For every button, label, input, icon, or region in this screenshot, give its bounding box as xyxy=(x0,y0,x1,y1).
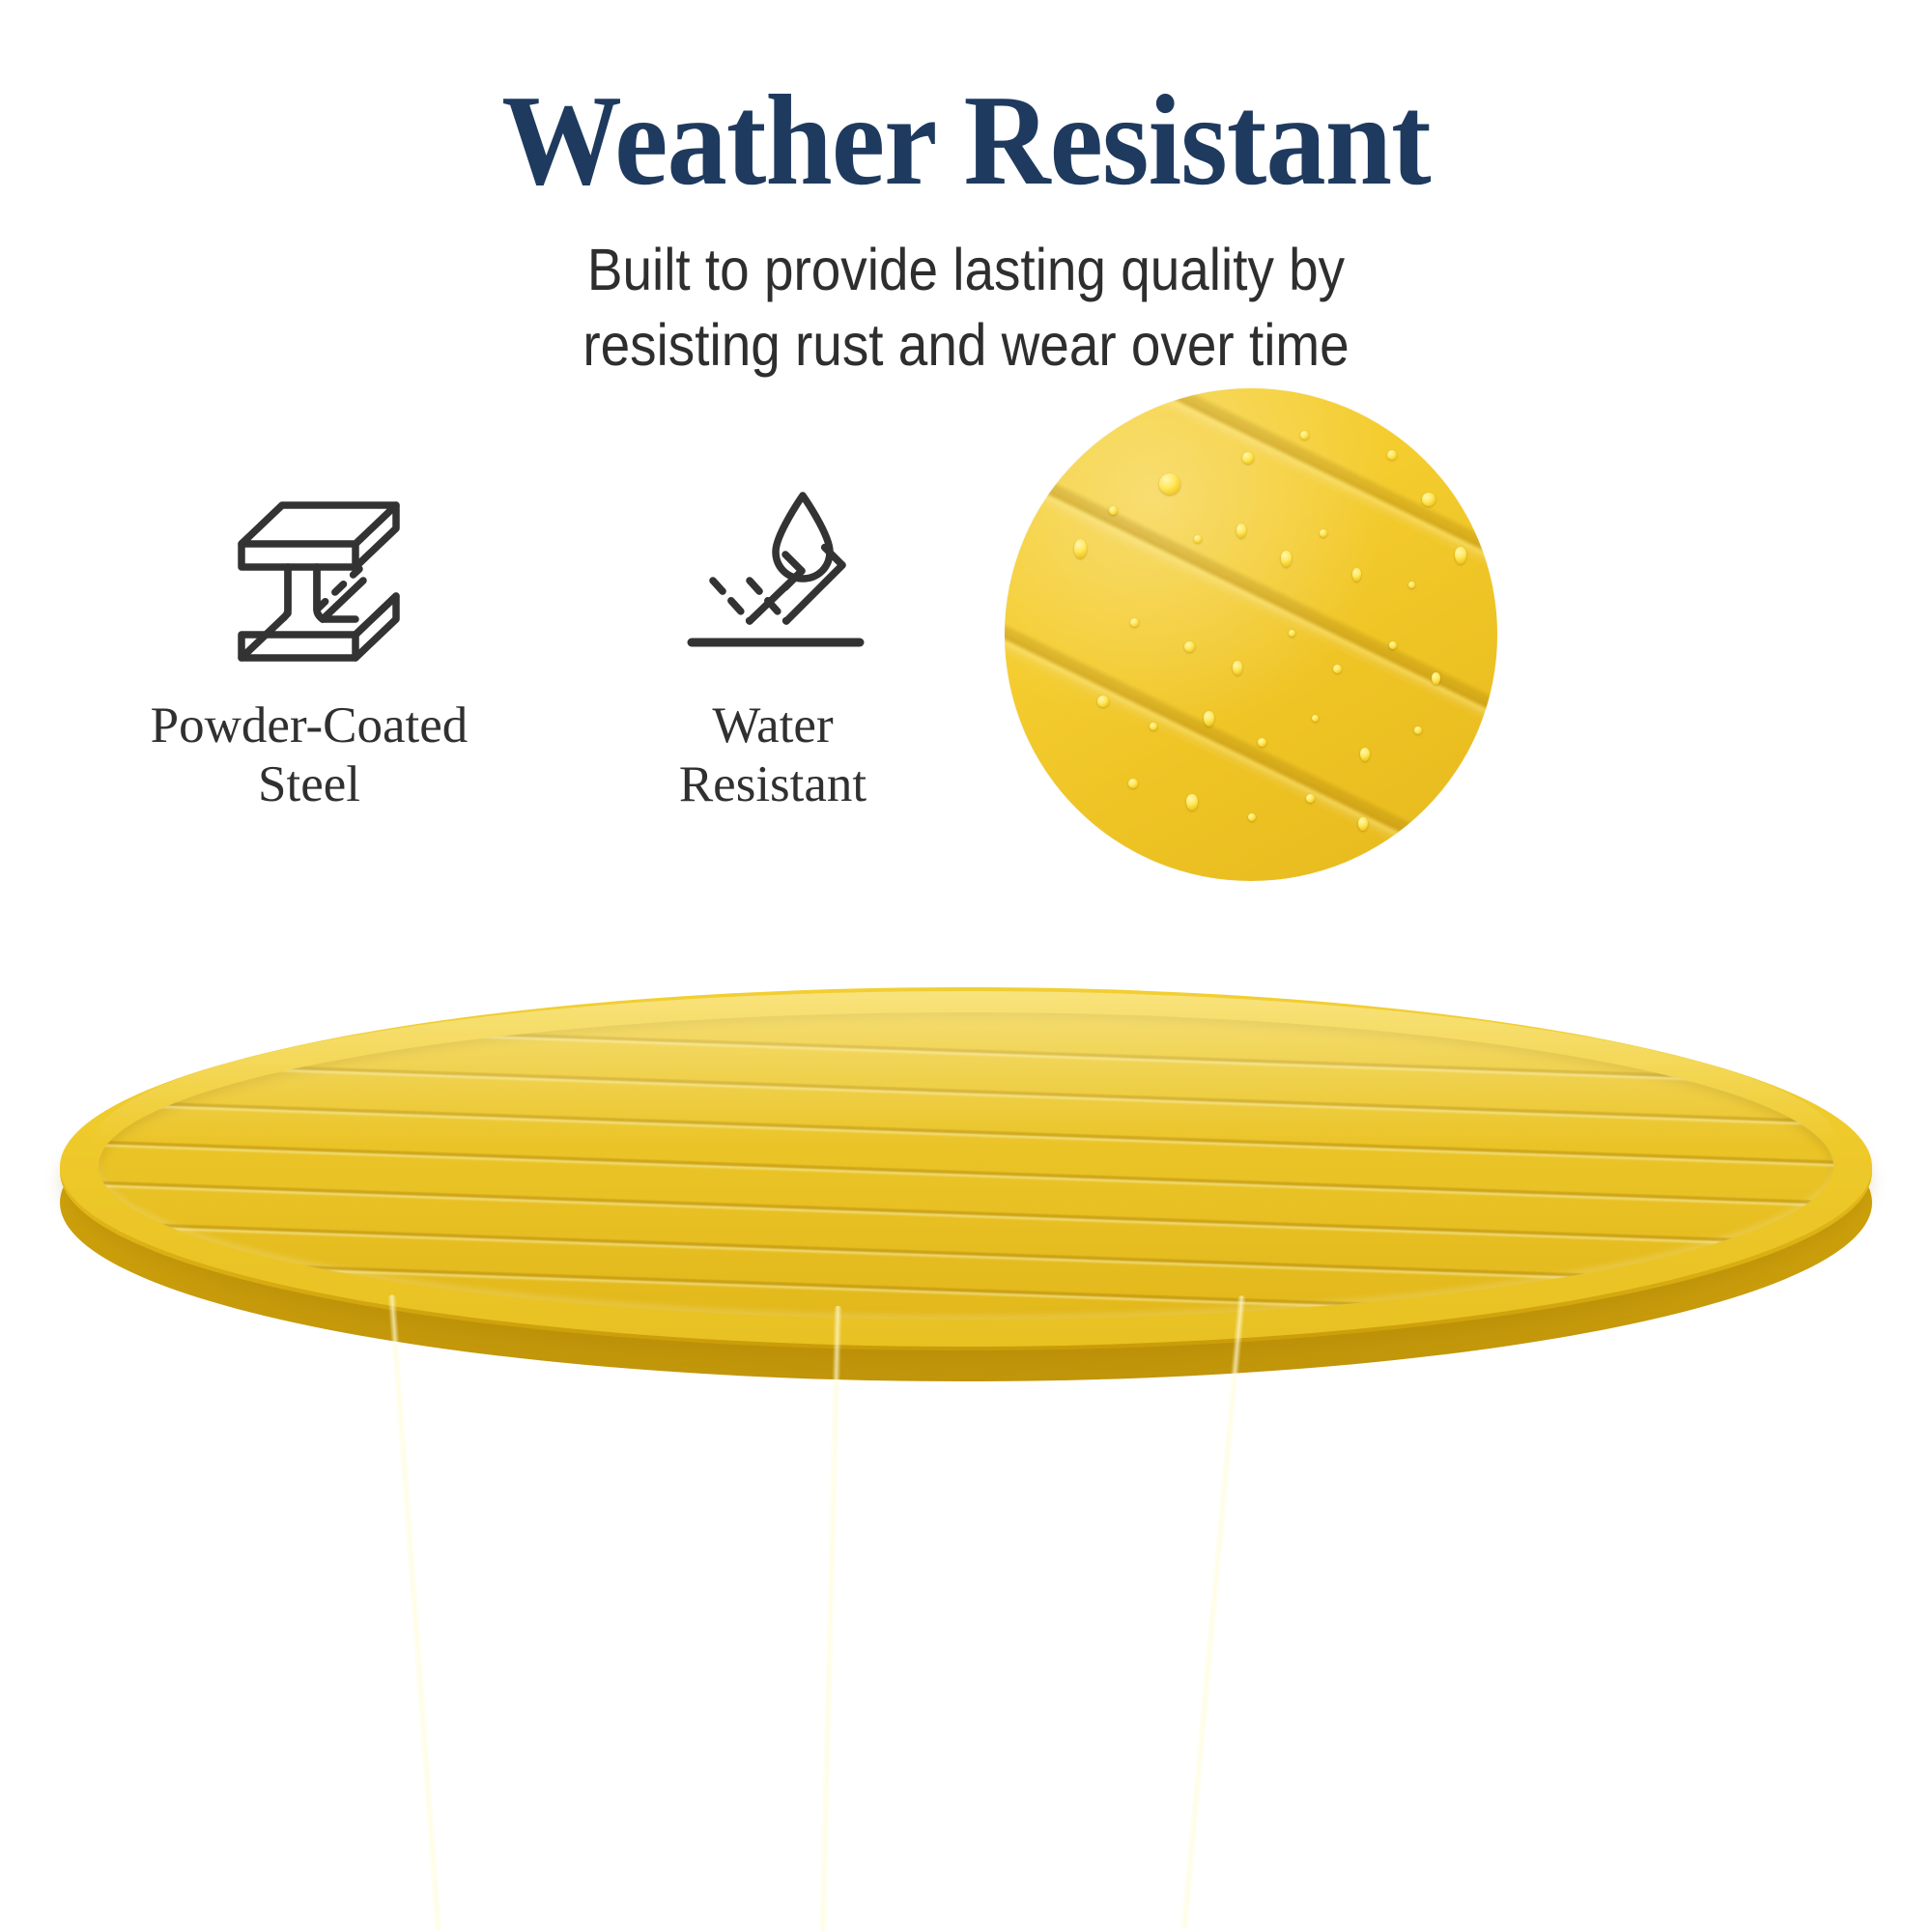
table-leg xyxy=(808,1305,866,1932)
infographic-canvas: Weather Resistant Built to provide lasti… xyxy=(0,0,1932,1932)
table-leg xyxy=(377,1293,466,1931)
table-top-slat-panel xyxy=(99,1012,1833,1320)
product-photo-round-slatted-side-table xyxy=(0,0,1932,1932)
table-leg xyxy=(1169,1294,1268,1931)
